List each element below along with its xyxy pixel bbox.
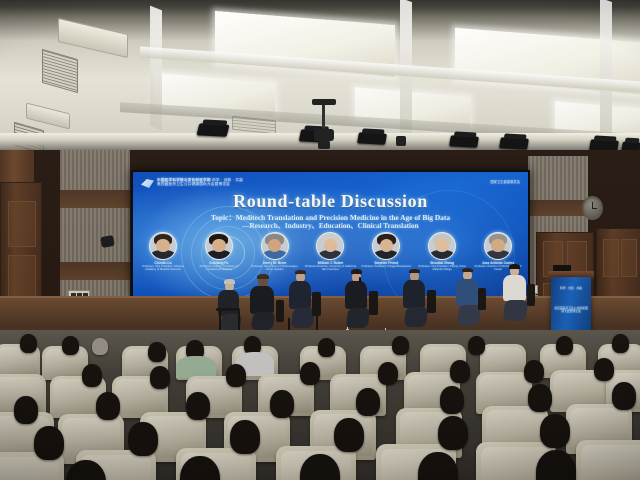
panelist-torso (250, 286, 274, 314)
panelist-hair (257, 274, 269, 279)
audience-member-head (468, 336, 485, 355)
audience-member-head (438, 416, 468, 450)
projector-mount (322, 103, 325, 131)
panelist-torso (218, 290, 239, 316)
audience-member-head (378, 362, 398, 385)
audience-member-head (14, 396, 38, 424)
panelist-legs (404, 307, 428, 327)
slide-speaker-affiliation: Professor, Vice President, Chinese Acade… (137, 265, 189, 271)
wall-trim-band (528, 200, 588, 216)
slide-speaker-1: Chunfa LiuProfessor, Vice President, Chi… (137, 232, 189, 271)
stage-chair (427, 290, 436, 313)
audience-member-head (528, 384, 552, 412)
audience-member-head (612, 382, 636, 410)
audience-member-head (540, 414, 570, 448)
panelist-hair (509, 264, 520, 269)
projector-lens (318, 141, 330, 149)
audience-member-head (82, 364, 102, 387)
stage-chair (369, 291, 378, 315)
slide-speaker-affiliation: Professor, Department of Neurosurgery, J… (249, 265, 301, 271)
audience-member-head (20, 334, 37, 353)
stage-chair (527, 284, 535, 306)
audience-member-head (96, 392, 120, 420)
slide-speaker-affiliation: Professor Emeritus, University of Califo… (304, 265, 356, 271)
audience-seat (576, 440, 640, 480)
slide-speaker-5: Stephen FriendProfessor, President of Sa… (360, 232, 412, 268)
slide-subtitle: —Research、Industry、Education、Clinical Tr… (139, 221, 522, 231)
slide-speaker-affiliation: Professor, President of Sage Bionetworks (360, 265, 412, 268)
slide-speaker-6: Shoubai ZhangProfessor, Vice President, … (416, 232, 468, 271)
wall-trim-band (60, 190, 130, 208)
slide-speaker-affiliation: Professor, Director of Institute of Tran… (193, 265, 245, 271)
panelist-hair (295, 270, 306, 274)
audience-member-head (186, 392, 210, 420)
panelist-hair (462, 268, 473, 272)
panelist-hair (409, 269, 420, 273)
stage-chair (478, 288, 486, 310)
slide-speaker-portrait (149, 232, 177, 260)
panelist-torso (503, 275, 526, 301)
stage-spotlight (197, 123, 230, 137)
slide-speaker-portrait (372, 232, 400, 260)
panelist-torso (289, 281, 311, 309)
audience-member-head (450, 360, 470, 383)
slide-logo-text: 中国医学科学院北京协和医学院 科学 · 创新 · 共赢 第四届医药卫生公共健康国… (157, 178, 243, 187)
slide-speaker-3: Henry M. BremProfessor, Department of Ne… (249, 232, 301, 271)
audience-member-head (92, 338, 108, 355)
audience-area (0, 330, 640, 480)
panelist-legs (251, 312, 276, 330)
stage-spotlight (449, 135, 479, 147)
panelist-torso (456, 279, 478, 306)
audience-member-head (148, 342, 166, 362)
handheld-microphone (359, 277, 361, 283)
audience-member-head (594, 358, 614, 381)
audience-member-head (300, 362, 320, 385)
slide-logo-right: 国家卫生健康委员会 (490, 180, 520, 184)
panelist-hair (351, 269, 362, 274)
audience-member-head (556, 336, 573, 355)
wall-clock (582, 196, 603, 220)
audience-member-head (270, 390, 294, 418)
audience-member-head (356, 388, 380, 416)
panelist-torso (345, 281, 367, 309)
stage-chair (276, 300, 284, 322)
audience-member-head (226, 364, 246, 387)
podium-label-top: 科学 · 创新 · 共赢 (554, 287, 588, 290)
audience-member-head (334, 418, 364, 452)
ceiling-speaker (396, 136, 406, 146)
stage-spotlight (499, 137, 529, 149)
audience-member-head (318, 338, 335, 357)
audience-member-head (150, 366, 170, 389)
conference-logo-icon (141, 179, 154, 188)
stage-spotlight (357, 132, 387, 144)
slide-speaker-portrait (484, 232, 512, 260)
panelist-hair (224, 279, 235, 284)
wall-speaker (100, 235, 115, 248)
audience-member-head (536, 450, 576, 480)
panelist-legs (503, 300, 528, 321)
slide-speaker-affiliation: Professor, Vice President, Peking Union … (416, 265, 468, 271)
slide-speaker-portrait (316, 232, 344, 260)
slide-speaker-portrait (205, 232, 233, 260)
audience-member-head (392, 336, 409, 355)
wall-trim-band (60, 262, 130, 280)
slide-speaker-portrait (428, 232, 456, 260)
conference-photo: 中国医学科学院北京协和医学院 科学 · 创新 · 共赢 第四届医药卫生公共健康国… (0, 0, 640, 480)
slide-logo-line2: 第四届医药卫生公共健康国际大会暨博览会 (157, 182, 243, 186)
audience-member-head (612, 334, 629, 353)
projector-mount (312, 99, 336, 105)
slide-logo-row: 中国医学科学院北京协和医学院 科学 · 创新 · 共赢 第四届医药卫生公共健康国… (141, 178, 520, 191)
stage-chair (312, 292, 321, 316)
audience-member-head (440, 386, 464, 414)
slide-speaker-portrait (261, 232, 289, 260)
slide-speaker-4: William J. RutterProfessor Emeritus, Uni… (304, 232, 356, 271)
audience-member-body (176, 356, 216, 378)
hvac-vent (42, 49, 78, 93)
audience-member-head (34, 426, 64, 460)
audience-member-head (128, 422, 158, 456)
slide-speaker-2: Guoliang FuProfessor, Director of Instit… (193, 232, 245, 271)
projector (314, 129, 334, 141)
audience-member-head (62, 336, 79, 355)
panelist-legs (346, 308, 370, 328)
audience-member-head (524, 360, 544, 383)
podium-label-main: 第四届医药卫生公共健康国际大会暨博览会 (554, 307, 588, 313)
ceiling-rib (600, 0, 612, 142)
slide-title: Round-table Discussion (133, 191, 528, 212)
ceiling-light-fixture (58, 18, 128, 58)
ceiling-light-fixture (26, 103, 70, 130)
panelist-torso (403, 280, 425, 308)
audience-member-head (230, 420, 260, 454)
